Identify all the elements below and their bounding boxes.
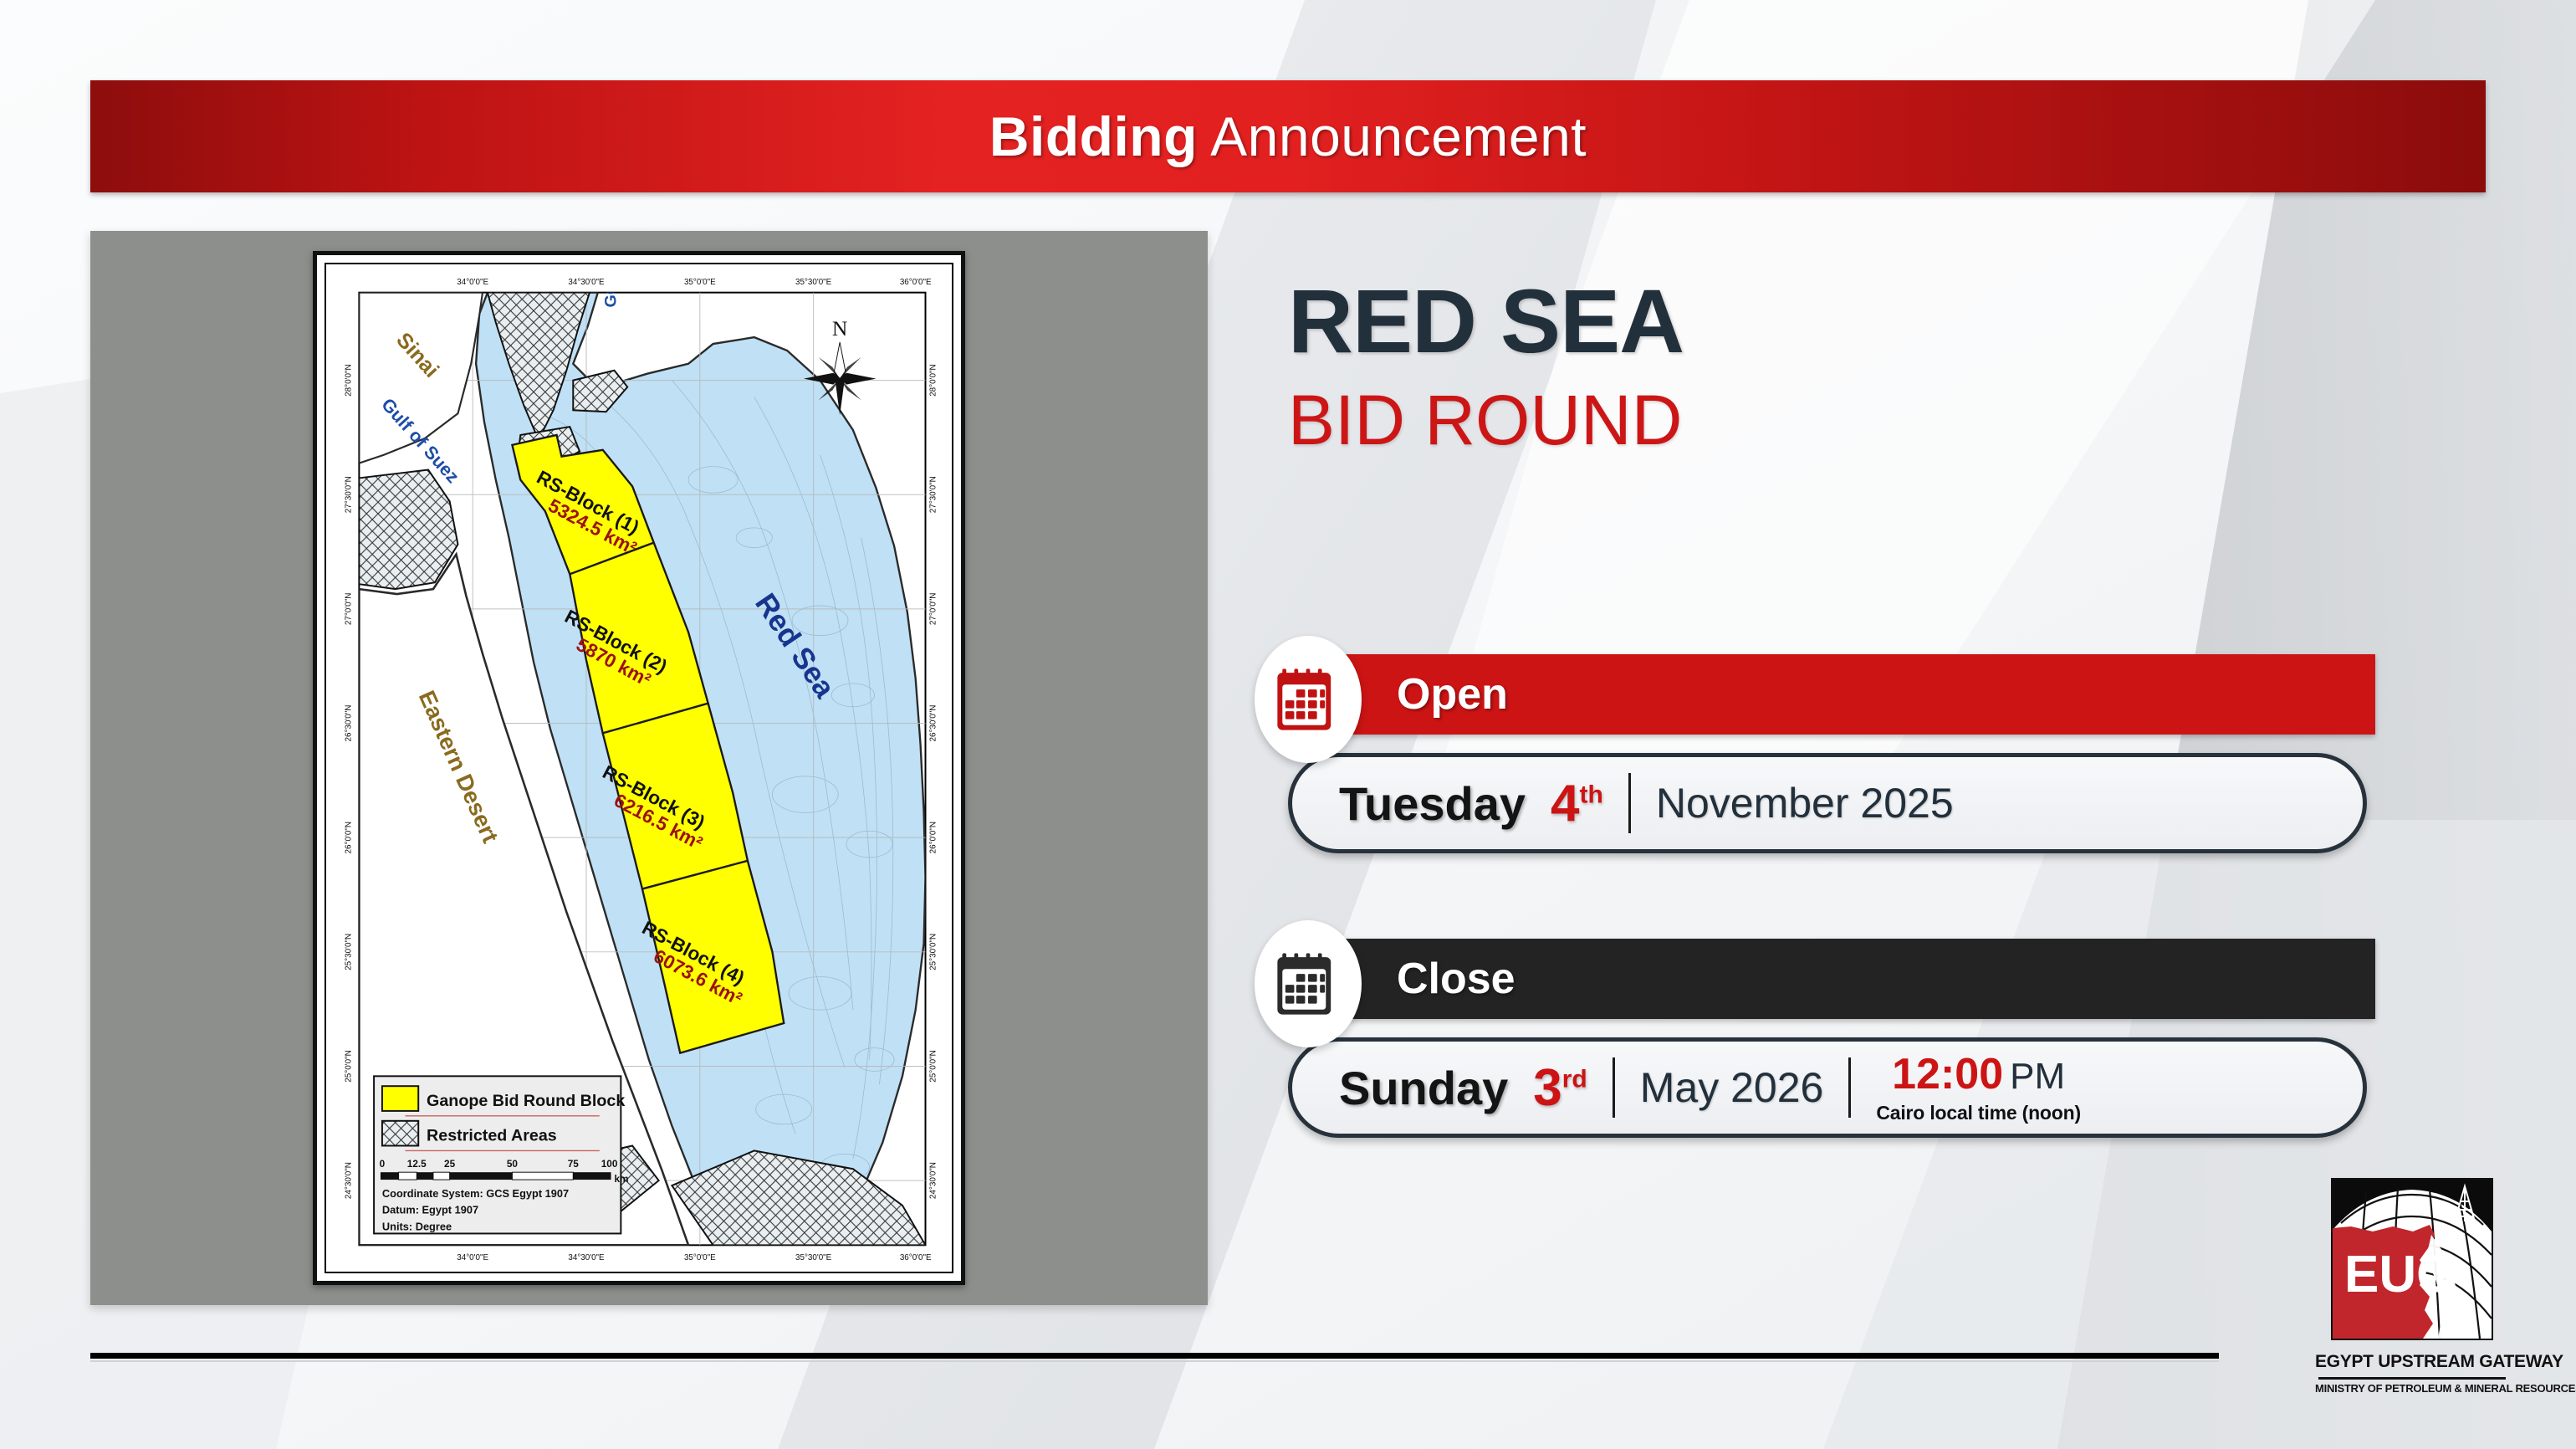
svg-text:25°0'0"N: 25°0'0"N bbox=[928, 1050, 938, 1083]
svg-text:25°0'0"N: 25°0'0"N bbox=[345, 1050, 354, 1083]
svg-text:27°0'0"N: 27°0'0"N bbox=[928, 593, 938, 626]
map-lon-ticks-bottom: 34°0'0"E 34°30'0"E 35°0'0"E 35°30'0"E 36… bbox=[457, 1253, 932, 1262]
eug-logo: EUG EGYPT UPSTREAM GATEWAY MINISTRY OF P… bbox=[2315, 1178, 2509, 1429]
page-title-regular: Announcement bbox=[1198, 105, 1587, 167]
open-bar-label: Open bbox=[1397, 669, 1508, 719]
svg-text:34°0'0"E: 34°0'0"E bbox=[457, 1253, 488, 1262]
calendar-icon-glyph bbox=[1276, 667, 1340, 732]
close-time-block: 12:00PM Cairo local time (noon) bbox=[1876, 1052, 2081, 1123]
svg-text:Coordinate System: GCS Egypt 1: Coordinate System: GCS Egypt 1907 bbox=[382, 1187, 569, 1200]
eug-logo-name: EGYPT UPSTREAM GATEWAY bbox=[2315, 1352, 2509, 1372]
svg-text:Datum: Egypt 1907: Datum: Egypt 1907 bbox=[382, 1204, 478, 1216]
calendar-icon bbox=[1255, 920, 1362, 1047]
schedule-close: Close bbox=[1255, 939, 2375, 1019]
svg-text:25°30'0"N: 25°30'0"N bbox=[928, 934, 938, 970]
svg-text:36°0'0"E: 36°0'0"E bbox=[900, 1253, 932, 1262]
svg-text:EUG: EUG bbox=[2344, 1246, 2456, 1303]
svg-text:25°30'0"N: 25°30'0"N bbox=[345, 934, 354, 970]
svg-text:Ganope Bid Round Block: Ganope Bid Round Block bbox=[427, 1092, 625, 1110]
svg-text:75: 75 bbox=[568, 1158, 580, 1170]
svg-text:50: 50 bbox=[507, 1158, 519, 1170]
svg-text:Restricted Areas: Restricted Areas bbox=[427, 1127, 557, 1145]
close-day-number: 3rd bbox=[1533, 1058, 1587, 1118]
footer-rule bbox=[90, 1353, 2219, 1359]
eug-logo-mark: EUG bbox=[2331, 1178, 2493, 1340]
svg-text:26°30'0"N: 26°30'0"N bbox=[345, 705, 354, 742]
map-lat-ticks-right: 28°0'0"N 27°30'0"N 27°0'0"N 26°30'0"N 26… bbox=[928, 364, 938, 1199]
footer-rule-shadow bbox=[90, 1360, 2219, 1362]
open-month-year: November 2025 bbox=[1656, 779, 1954, 827]
svg-text:100: 100 bbox=[601, 1158, 618, 1170]
map-lat-ticks-left: 28°0'0"N 27°30'0"N 27°0'0"N 26°30'0"N 26… bbox=[345, 364, 354, 1199]
svg-text:km: km bbox=[614, 1173, 628, 1185]
page-title-bold: Bidding bbox=[989, 105, 1198, 167]
svg-text:27°0'0"N: 27°0'0"N bbox=[345, 593, 354, 626]
calendar-icon bbox=[1255, 636, 1362, 763]
svg-text:26°30'0"N: 26°30'0"N bbox=[928, 705, 938, 742]
map-lon-ticks-top: 34°0'0"E 34°30'0"E 35°0'0"E 35°30'0"E 36… bbox=[457, 278, 932, 287]
divider bbox=[1848, 1057, 1851, 1118]
svg-text:35°0'0"E: 35°0'0"E bbox=[684, 1253, 716, 1262]
divider bbox=[1628, 773, 1631, 833]
svg-text:35°0'0"E: 35°0'0"E bbox=[684, 278, 716, 287]
svg-text:34°30'0"E: 34°30'0"E bbox=[568, 278, 605, 287]
svg-text:Units: Degree: Units: Degree bbox=[382, 1220, 452, 1232]
close-time-note: Cairo local time (noon) bbox=[1876, 1103, 2081, 1123]
close-bar-label: Close bbox=[1397, 954, 1515, 1004]
close-time-ampm: PM bbox=[2010, 1056, 2065, 1097]
svg-text:27°30'0"N: 27°30'0"N bbox=[928, 476, 938, 513]
headline-main: RED SEA bbox=[1288, 276, 2375, 366]
open-day-ordinal: th bbox=[1580, 781, 1603, 808]
map-panel: RS-Block (1) 5324.5 km² RS-Block (2) 587… bbox=[90, 231, 1208, 1305]
open-day-number: 4th bbox=[1551, 774, 1603, 833]
svg-text:34°30'0"E: 34°30'0"E bbox=[568, 1253, 605, 1262]
close-day-ordinal: rd bbox=[1562, 1065, 1587, 1093]
svg-text:28°0'0"N: 28°0'0"N bbox=[928, 364, 938, 397]
divider bbox=[1613, 1057, 1615, 1118]
svg-text:35°30'0"E: 35°30'0"E bbox=[795, 278, 832, 287]
map-legend: Ganope Bid Round Block Restricted Areas … bbox=[374, 1076, 628, 1233]
open-date-pill: Tuesday 4th November 2025 bbox=[1288, 753, 2367, 853]
eug-logo-glyph: EUG bbox=[2333, 1180, 2492, 1339]
open-bar: Open bbox=[1305, 654, 2375, 735]
close-time: 12:00PM bbox=[1892, 1052, 2065, 1096]
svg-text:27°30'0"N: 27°30'0"N bbox=[345, 476, 354, 513]
red-sea-block-map: RS-Block (1) 5324.5 km² RS-Block (2) 587… bbox=[326, 264, 952, 1272]
svg-text:24°30'0"N: 24°30'0"N bbox=[345, 1162, 354, 1199]
map-frame: RS-Block (1) 5324.5 km² RS-Block (2) 587… bbox=[313, 251, 965, 1285]
open-weekday: Tuesday bbox=[1339, 776, 1526, 831]
svg-text:28°0'0"N: 28°0'0"N bbox=[345, 364, 354, 397]
svg-text:0: 0 bbox=[380, 1158, 386, 1170]
eug-logo-subtitle: MINISTRY OF PETROLEUM & MINERAL RESOURCE… bbox=[2315, 1382, 2509, 1395]
svg-text:24°30'0"N: 24°30'0"N bbox=[928, 1162, 938, 1199]
close-bar: Close bbox=[1305, 939, 2375, 1019]
svg-text:26°0'0"N: 26°0'0"N bbox=[928, 822, 938, 854]
page-title: Bidding Announcement bbox=[989, 105, 1587, 168]
headline-sub: BID ROUND bbox=[1288, 380, 2375, 461]
close-weekday: Sunday bbox=[1339, 1061, 1508, 1115]
close-date-pill: Sunday 3rd May 2026 12:00PM Cairo local … bbox=[1288, 1037, 2367, 1138]
svg-text:34°0'0"E: 34°0'0"E bbox=[457, 278, 488, 287]
eug-logo-divider bbox=[2318, 1377, 2506, 1380]
svg-text:12.5: 12.5 bbox=[407, 1158, 427, 1170]
svg-text:N: N bbox=[832, 316, 847, 340]
svg-text:GOA: GOA bbox=[601, 269, 620, 307]
header-banner: Bidding Announcement bbox=[90, 80, 2486, 192]
svg-text:25: 25 bbox=[444, 1158, 456, 1170]
headline-block: RED SEA BID ROUND bbox=[1288, 276, 2375, 461]
schedule-open: Open bbox=[1255, 654, 2375, 735]
close-month-year: May 2026 bbox=[1640, 1063, 1824, 1112]
svg-text:36°0'0"E: 36°0'0"E bbox=[900, 278, 932, 287]
svg-text:26°0'0"N: 26°0'0"N bbox=[345, 822, 354, 854]
calendar-icon-glyph bbox=[1276, 951, 1340, 1016]
map-canvas: RS-Block (1) 5324.5 km² RS-Block (2) 587… bbox=[325, 263, 953, 1273]
svg-text:35°30'0"E: 35°30'0"E bbox=[795, 1253, 832, 1262]
